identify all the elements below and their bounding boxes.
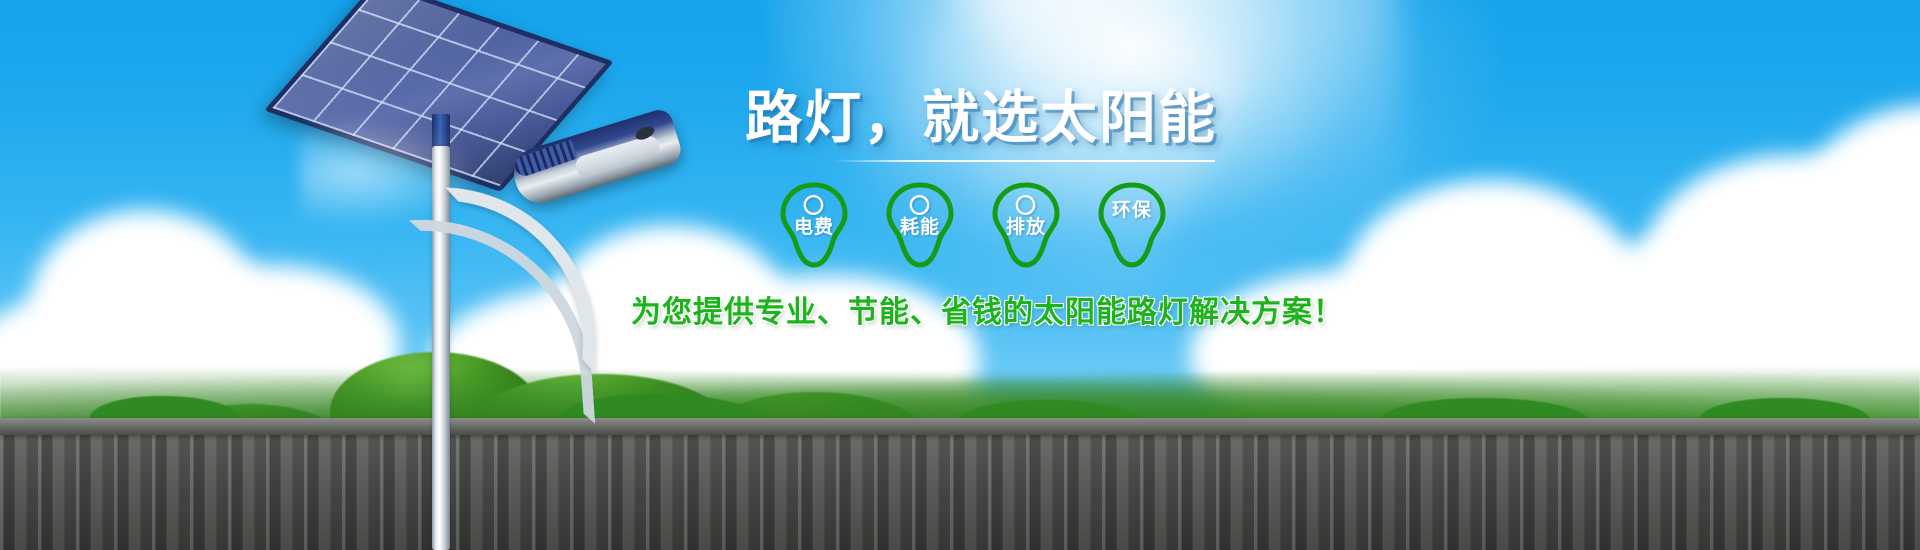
feature-badge-text: 〇 电费 [773,195,855,239]
badge-label: 电费 [794,217,834,238]
solar-street-light-banner: 路灯，就选太阳能 〇 电费 〇 耗能 [0,0,1920,550]
feature-badge: 〇 耗能 [879,181,961,269]
solar-street-light-icon [318,0,718,550]
badge-label: 耗能 [900,217,940,238]
lamp-arm [439,187,601,372]
wall-cap [0,418,1920,435]
feature-badge-text: 〇 耗能 [879,195,961,239]
feature-badge-list: 〇 电费 〇 耗能 〇 排放 [773,181,1215,269]
feature-badge-text: 〇 排放 [985,195,1067,239]
lightbulb-outline-icon [1091,181,1173,269]
badge-label: 环保 [1112,200,1152,221]
tiled-wall-icon [0,418,1920,550]
feature-badge-text: 环保 [1091,201,1173,221]
badge-zero: 〇 [879,195,961,219]
banner-copy: 路灯，就选太阳能 〇 电费 〇 耗能 [745,88,1215,331]
badge-zero: 〇 [985,195,1067,219]
feature-badge: 环保 [1091,181,1173,269]
banner-subtitle: 为您提供专业、节能、省钱的太阳能路灯解决方案！ [631,287,1215,331]
badge-zero: 〇 [773,195,855,219]
feature-badge: 〇 电费 [773,181,855,269]
title-divider [831,160,1215,162]
page-title: 路灯，就选太阳能 [745,88,1215,150]
badge-label: 排放 [1006,217,1046,238]
feature-badge: 〇 排放 [985,181,1067,269]
